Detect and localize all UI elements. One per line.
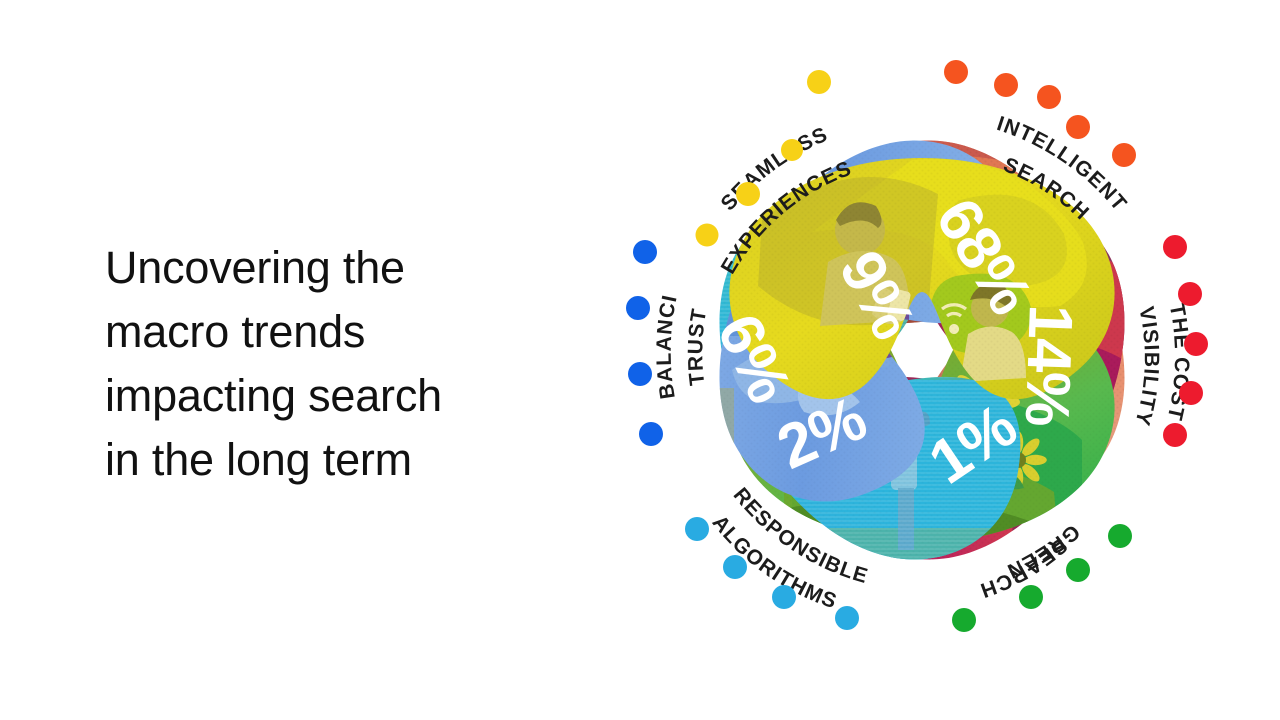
radial-infographic: 9% 68% 14% 1% 2% 6% SEAMLESS EXPERIENCES… [612,40,1232,660]
label-cost-of-visibility-line2: VISIBILITY [1130,305,1163,429]
label-balancing-trust-line1: BALANCING [612,40,682,401]
label-balancing-trust-line2: TRUST [684,306,711,386]
value-cost-of-visibility: 14% [1012,304,1085,427]
slide-canvas: Uncovering the macro trends impacting se… [0,0,1280,720]
page-title: Uncovering the macro trends impacting se… [105,236,575,492]
